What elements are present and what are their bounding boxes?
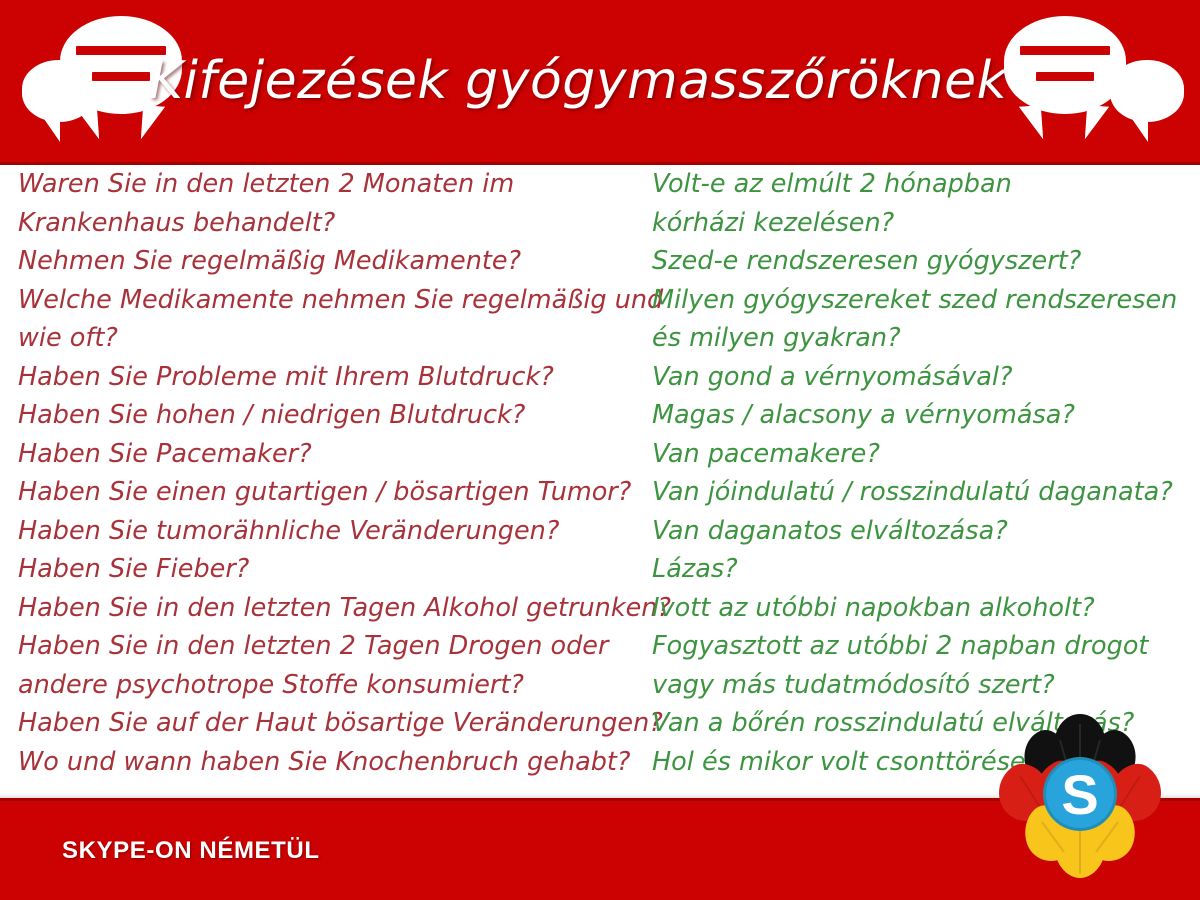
hungarian-line: Van pacemakere? [652,435,1192,474]
skype-badge: S [1043,757,1117,831]
german-column: Waren Sie in den letzten 2 Monaten im Kr… [18,165,658,798]
hungarian-line: Fogyasztott az utóbbi 2 napban drogot [652,627,1192,666]
german-line: Haben Sie in den letzten 2 Tagen Drogen … [18,627,658,666]
german-line: Haben Sie Probleme mit Ihrem Blutdruck? [18,358,658,397]
speech-bubbles-right [980,14,1190,152]
german-line: Haben Sie tumorähnliche Veränderungen? [18,512,658,551]
german-line: Haben Sie Fieber? [18,550,658,589]
german-line: Nehmen Sie regelmäßig Medikamente? [18,242,658,281]
german-line: Haben Sie auf der Haut bösartige Verände… [18,704,658,743]
poster-root: Kifejezések gyógymasszőröknek I. Waren S… [0,0,1200,900]
german-line: Welche Medikamente nehmen Sie regelmäßig… [18,281,658,320]
header-band: Kifejezések gyógymasszőröknek I. [0,0,1200,165]
hungarian-line: Szed-e rendszeresen gyógyszert? [652,242,1192,281]
speech-bubble-large-icon [1004,16,1126,114]
german-line: Waren Sie in den letzten 2 Monaten im [18,165,658,204]
skype-badge-letter: S [1061,763,1098,826]
german-line: Haben Sie einen gutartigen / bösartigen … [18,473,658,512]
hungarian-line: Volt-e az elmúlt 2 hónapban [652,165,1192,204]
hungarian-line: vagy más tudatmódosító szert? [652,666,1192,705]
bubble-tail [1130,116,1148,142]
hungarian-line: Van gond a vérnyomásával? [652,358,1192,397]
german-line: wie oft? [18,319,658,358]
brand-label: SKYPE-ON NÉMETÜL [62,837,320,865]
hungarian-line: Van daganatos elváltozása? [652,512,1192,551]
bubble-text-line [1036,72,1094,81]
bubble-tail [1085,105,1109,140]
hungarian-line: Magas / alacsony a vérnyomása? [652,396,1192,435]
german-line: Haben Sie in den letzten Tagen Alkohol g… [18,589,658,628]
skype-german-flower-logo: S [980,706,1180,886]
german-line: Krankenhaus behandelt? [18,204,658,243]
hungarian-line: Van jóindulatú / rosszindulatú daganata? [652,473,1192,512]
german-line: Haben Sie hohen / niedrigen Blutdruck? [18,396,658,435]
hungarian-line: Milyen gyógyszereket szed rendszeresen [652,281,1192,320]
german-line: andere psychotrope Stoffe konsumiert? [18,666,658,705]
hungarian-line: Lázas? [652,550,1192,589]
hungarian-column: Volt-e az elmúlt 2 hónapban kórházi keze… [652,165,1192,798]
german-line: Wo und wann haben Sie Knochenbruch gehab… [18,743,658,782]
phrase-table: Waren Sie in den letzten 2 Monaten im Kr… [0,165,1200,798]
hungarian-line: Ivott az utóbbi napokban alkoholt? [652,589,1192,628]
bubble-text-line [1020,46,1110,55]
hungarian-line: kórházi kezelésen? [652,204,1192,243]
german-line: Haben Sie Pacemaker? [18,435,658,474]
bubble-tail [1019,105,1043,140]
hungarian-line: és milyen gyakran? [652,319,1192,358]
